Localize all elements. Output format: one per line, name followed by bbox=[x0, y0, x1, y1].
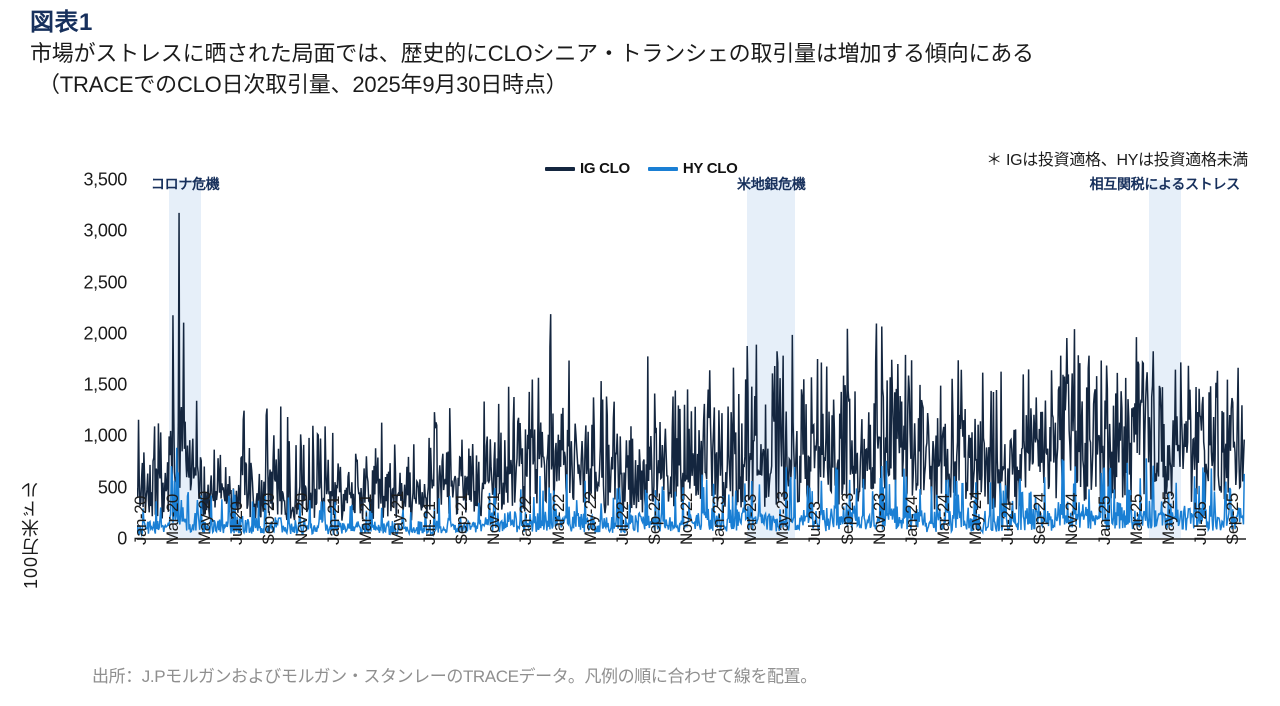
x-tick-label: May-21 bbox=[388, 491, 408, 545]
x-tick-label: Nov-23 bbox=[870, 493, 890, 545]
x-tick-label: May-23 bbox=[773, 491, 793, 545]
band-annotation-label: 相互関税によるストレス bbox=[1090, 174, 1240, 194]
x-tick-label: Sep-20 bbox=[259, 493, 279, 545]
chart-area: 100万米ドル 05001,0001,5002,0002,5003,0003,5… bbox=[0, 180, 1280, 620]
chart-header: 図表1 市場がストレスに晒された局面では、歴史的にCLOシニア・トランシェの取引… bbox=[30, 8, 1260, 100]
x-tick-label: Jan-21 bbox=[324, 496, 344, 545]
x-tick-label: Mar-22 bbox=[549, 494, 569, 545]
x-tick-label: Mar-20 bbox=[163, 494, 183, 545]
legend-item-hy-clo[interactable]: HY CLO bbox=[648, 160, 738, 177]
x-tick-label: Jul-20 bbox=[227, 502, 247, 545]
x-tick-label: Nov-24 bbox=[1062, 493, 1082, 545]
footnote-text: ＊ IGは投資適格、HYは投資適格未満 bbox=[986, 146, 1248, 170]
x-tick-label: Jul-22 bbox=[613, 502, 633, 545]
x-tick-label: Jul-25 bbox=[1191, 502, 1211, 545]
page-subtitle: （TRACEでのCLO日次取引量、2025年9月30日時点） bbox=[30, 69, 1260, 100]
x-tick-label: Mar-23 bbox=[741, 494, 761, 545]
x-tick-label: May-22 bbox=[581, 491, 601, 545]
x-tick-label: May-24 bbox=[966, 491, 986, 545]
x-tick-label: Sep-24 bbox=[1030, 493, 1050, 545]
band-annotation-label: コロナ危機 bbox=[151, 174, 220, 194]
plot-inner bbox=[137, 180, 1245, 539]
legend-label: HY CLO bbox=[683, 160, 738, 177]
x-tick-label: Jan-24 bbox=[902, 496, 922, 545]
x-tick-label: Jul-23 bbox=[805, 502, 825, 545]
x-tick-label: Jan-25 bbox=[1095, 496, 1115, 545]
x-tick-label: Nov-22 bbox=[677, 493, 697, 545]
series-canvas bbox=[137, 180, 1245, 539]
x-tick-label: Mar-24 bbox=[934, 494, 954, 545]
legend-item-ig-clo[interactable]: IG CLO bbox=[545, 160, 630, 177]
x-tick-label: Sep-23 bbox=[838, 493, 858, 545]
y-tick-label: 1,000 bbox=[55, 426, 127, 447]
figure-label: 図表1 bbox=[30, 8, 1260, 38]
series-line-ig-clo bbox=[137, 213, 1244, 521]
y-tick-label: 3,000 bbox=[55, 221, 127, 242]
x-tick-label: Nov-20 bbox=[292, 493, 312, 545]
x-tick-label: Jan-23 bbox=[709, 496, 729, 545]
y-tick-label: 500 bbox=[55, 477, 127, 498]
x-tick-label: Jul-21 bbox=[420, 502, 440, 545]
x-axis-ticks: Jan-20Mar-20May-20Jul-20Sep-20Nov-20Jan-… bbox=[0, 545, 1280, 625]
y-tick-label: 3,500 bbox=[55, 170, 127, 191]
y-tick-label: 1,500 bbox=[55, 375, 127, 396]
x-tick-label: Sep-25 bbox=[1223, 493, 1243, 545]
x-tick-label: Jul-24 bbox=[998, 502, 1018, 545]
x-tick-label: Jan-20 bbox=[131, 496, 151, 545]
page-title: 市場がストレスに晒された局面では、歴史的にCLOシニア・トランシェの取引量は増加… bbox=[30, 38, 1260, 69]
x-tick-label: Mar-25 bbox=[1127, 494, 1147, 545]
y-tick-label: 2,000 bbox=[55, 323, 127, 344]
x-tick-label: Nov-21 bbox=[484, 493, 504, 545]
y-axis-ticks: 05001,0001,5002,0002,5003,0003,500 bbox=[55, 180, 127, 540]
x-tick-label: Sep-21 bbox=[452, 493, 472, 545]
x-tick-label: Sep-22 bbox=[645, 493, 665, 545]
source-note: 出所：J.Pモルガンおよびモルガン・スタンレーのTRACEデータ。凡例の順に合わ… bbox=[92, 662, 817, 687]
x-tick-label: Mar-21 bbox=[356, 494, 376, 545]
x-tick-label: May-20 bbox=[195, 491, 215, 545]
plot-area bbox=[137, 180, 1245, 539]
legend-swatch-icon bbox=[648, 167, 678, 171]
chart-legend: IG CLOHY CLO bbox=[545, 160, 737, 177]
y-tick-label: 2,500 bbox=[55, 272, 127, 293]
legend-swatch-icon bbox=[545, 167, 575, 171]
legend-label: IG CLO bbox=[580, 160, 630, 177]
band-annotation-label: 米地銀危機 bbox=[737, 174, 806, 194]
x-tick-label: Jan-22 bbox=[516, 496, 536, 545]
x-tick-label: May-25 bbox=[1159, 491, 1179, 545]
